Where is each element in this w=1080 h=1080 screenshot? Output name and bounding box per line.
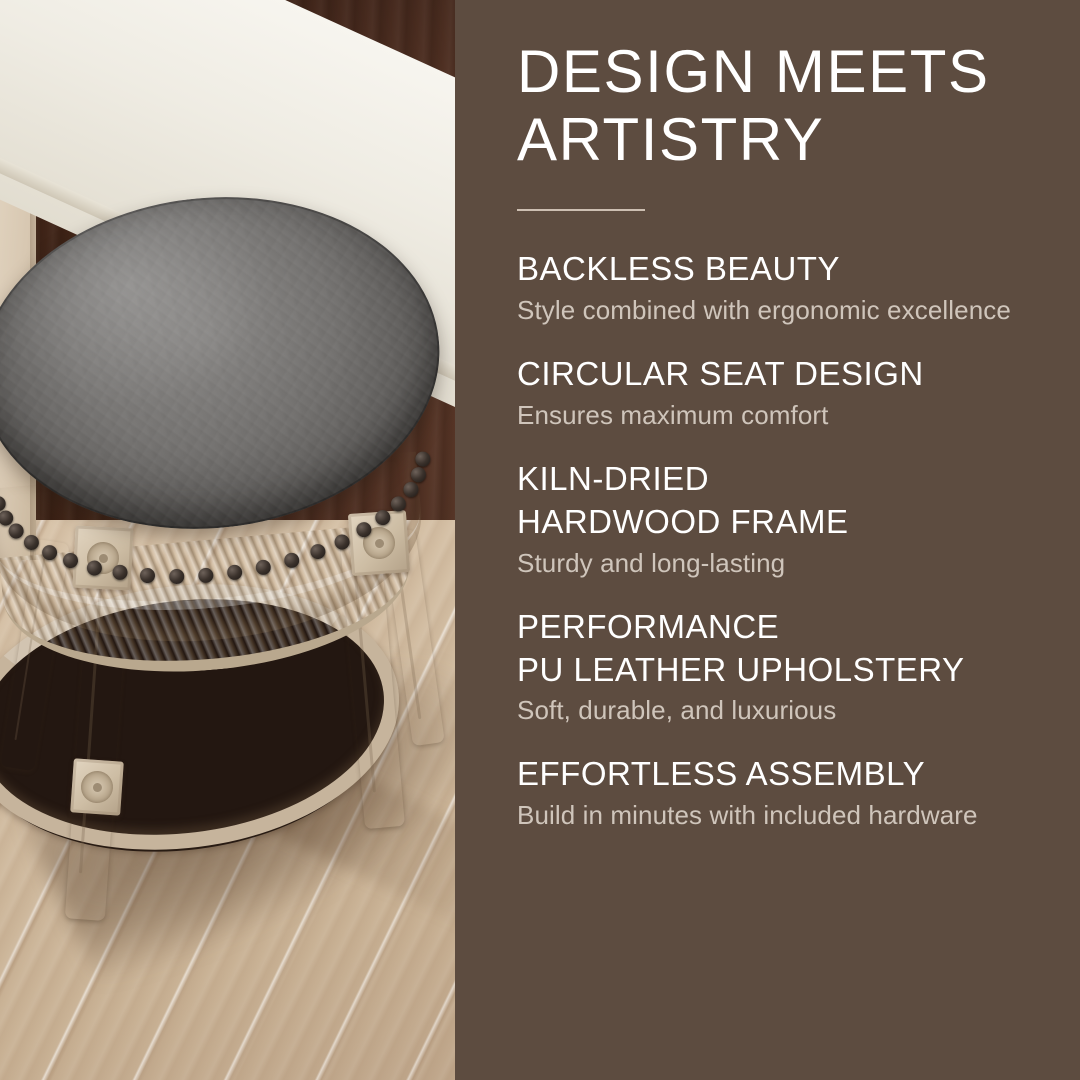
feature-description: Style combined with ergonomic excellence bbox=[517, 294, 1073, 327]
rosette-carving-icon bbox=[80, 770, 114, 804]
nailhead-stud bbox=[41, 544, 57, 560]
feature-item: Backless BeautyStyle combined with ergon… bbox=[517, 248, 1073, 327]
feature-item: Kiln-Dried Hardwood FrameSturdy and long… bbox=[517, 458, 1073, 580]
product-feature-infographic: Design Meets Artistry Backless BeautySty… bbox=[0, 0, 1080, 1080]
feature-description: Soft, durable, and luxurious bbox=[517, 694, 1073, 727]
nailhead-stud bbox=[227, 564, 243, 580]
feature-description: Ensures maximum comfort bbox=[517, 399, 1073, 432]
feature-description: Sturdy and long-lasting bbox=[517, 547, 1073, 580]
feature-title: Performance PU Leather Upholstery bbox=[517, 606, 1073, 692]
feature-title: Kiln-Dried Hardwood Frame bbox=[517, 458, 1073, 544]
product-photo bbox=[0, 0, 455, 1080]
title-divider bbox=[517, 209, 645, 211]
nailhead-stud bbox=[139, 568, 155, 584]
feature-title: Circular Seat Design bbox=[517, 353, 1073, 396]
nailhead-stud bbox=[256, 559, 272, 575]
feature-description: Build in minutes with included hardware bbox=[517, 799, 1073, 832]
carved-rosette-block-lower bbox=[70, 758, 124, 815]
nailhead-stud bbox=[402, 481, 418, 497]
nailhead-stud bbox=[411, 466, 427, 482]
feature-item: Circular Seat DesignEnsures maximum comf… bbox=[517, 353, 1073, 432]
nailhead-stud bbox=[86, 560, 102, 576]
nailhead-stud bbox=[415, 451, 431, 467]
page-title: Design Meets Artistry bbox=[517, 38, 1057, 174]
nailhead-stud bbox=[168, 569, 184, 585]
feature-text-panel: Design Meets Artistry Backless BeautySty… bbox=[455, 0, 1080, 1080]
feature-item: Performance PU Leather UpholsterySoft, d… bbox=[517, 606, 1073, 728]
nailhead-stud bbox=[112, 565, 128, 581]
feature-item: Effortless AssemblyBuild in minutes with… bbox=[517, 753, 1073, 832]
nailhead-stud bbox=[197, 567, 213, 583]
feature-list: Backless BeautyStyle combined with ergon… bbox=[517, 248, 1073, 858]
feature-title: Effortless Assembly bbox=[517, 753, 1073, 796]
bar-stool bbox=[0, 0, 455, 1080]
nailhead-stud bbox=[23, 534, 39, 550]
feature-title: Backless Beauty bbox=[517, 248, 1073, 291]
nailhead-stud bbox=[8, 522, 24, 538]
